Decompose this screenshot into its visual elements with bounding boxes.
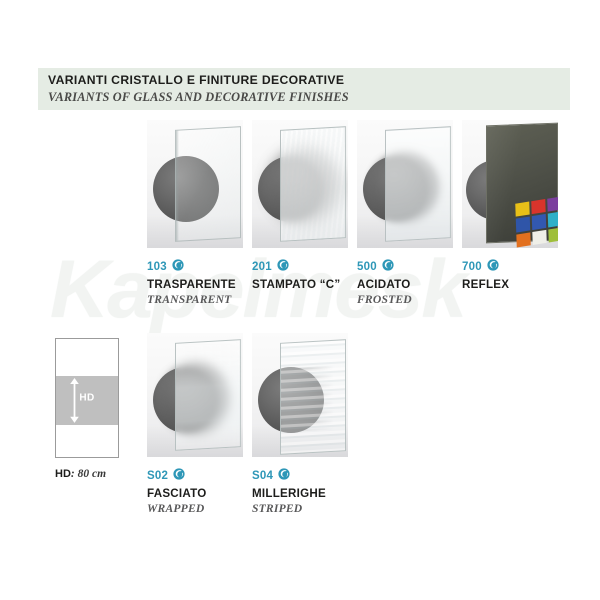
finish-code: 500 [357,261,377,273]
finish-card-s02[interactable]: S02 FASCIATO WRAPPED [147,333,243,515]
finish-card-201[interactable]: 201 STAMPATO “C” [252,120,348,293]
glass-swatch-icon [487,258,499,276]
glass-swatch-icon [277,258,289,276]
glass-swatch-icon [172,258,184,276]
finish-code: 201 [252,261,272,273]
sample-photo-acidato [357,120,453,248]
finish-row-bottom: S02 FASCIATO WRAPPED S04 [0,333,600,533]
finish-card-s04[interactable]: S04 MILLERIGHE STRIPED [252,333,348,515]
finish-code: S02 [147,470,168,482]
finish-name-it: REFLEX [462,278,600,291]
finish-card-700[interactable]: 700 REFLEX [462,120,558,293]
finish-caption: S04 MILLERIGHE STRIPED [252,469,392,515]
glass-swatch-icon [173,467,185,485]
sample-photo-fasciato [147,333,243,457]
glass-pane-stampato [280,126,346,242]
glass-pane-millerighe [280,339,346,455]
finish-name-en: STRIPED [252,502,392,515]
color-checker-reflection [515,196,558,247]
finish-caption: 700 REFLEX [462,260,600,291]
page-subtitle: VARIANTS OF GLASS AND DECORATIVE FINISHE… [48,90,349,105]
glass-pane-acidato [385,126,451,242]
finish-name-en: TRANSPARENT [147,293,287,306]
sample-photo-trasparente [147,120,243,248]
sample-photo-reflex [462,120,558,248]
finish-code: S04 [252,470,273,482]
finish-name-it: MILLERIGHE [252,487,392,500]
code-line: 700 [462,260,600,274]
finish-row-top: 103 TRASPARENTE TRANSPARENT 2 [0,120,600,320]
code-line: S04 [252,469,392,483]
page-title: VARIANTI CRISTALLO E FINITURE DECORATIVE [48,73,344,87]
glass-pane-fasciato [175,339,241,451]
sample-photo-stampato-c [252,120,348,248]
finish-card-500[interactable]: 500 ACIDATO FROSTED [357,120,453,306]
finish-code: 103 [147,261,167,273]
glass-swatch-icon [278,467,290,485]
finish-code: 700 [462,261,482,273]
glass-pane-clear [175,126,241,242]
finish-name-en: FROSTED [357,293,497,306]
sample-photo-millerighe [252,333,348,457]
finish-card-103[interactable]: 103 TRASPARENTE TRANSPARENT [147,120,243,306]
section-header-band: VARIANTI CRISTALLO E FINITURE DECORATIVE… [38,68,570,110]
glass-swatch-icon [382,258,394,276]
